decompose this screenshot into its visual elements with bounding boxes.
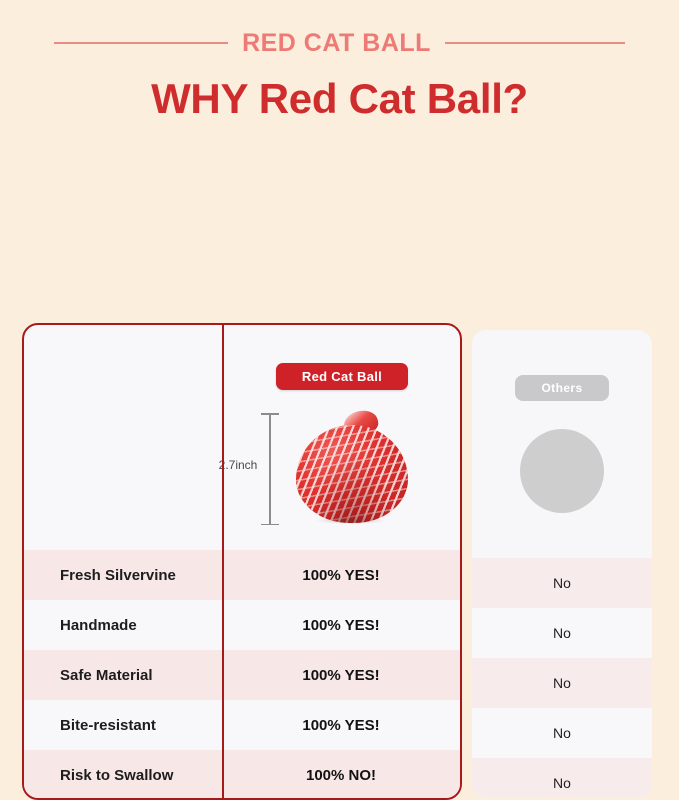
- product-value: 100% YES!: [222, 717, 460, 734]
- table-row: No: [472, 558, 652, 608]
- product-value: 100% YES!: [222, 567, 460, 584]
- product-image-area: 2.7inch: [224, 409, 460, 529]
- others-value: No: [553, 675, 571, 691]
- table-row: Handmade 100% YES!: [24, 600, 460, 650]
- others-column-panel: Others No No No No No: [472, 330, 652, 798]
- feature-label: Fresh Silvervine: [24, 567, 222, 584]
- product-value: 100% YES!: [222, 617, 460, 634]
- others-value: No: [553, 575, 571, 591]
- dimension-label: 2.7inch: [208, 457, 268, 473]
- table-row: Bite-resistant 100% YES!: [24, 700, 460, 750]
- ball-shadow: [316, 517, 386, 524]
- eyebrow-row: RED CAT BALL: [0, 28, 679, 58]
- ball-body: [296, 425, 408, 523]
- table-row: No: [472, 608, 652, 658]
- red-crochet-cat-ball-image: [296, 411, 408, 523]
- table-row: Fresh Silvervine 100% YES!: [24, 550, 460, 600]
- page-header: RED CAT BALL WHY Red Cat Ball?: [0, 0, 679, 152]
- product-badge: Red Cat Ball: [276, 363, 408, 390]
- others-value: No: [553, 625, 571, 641]
- others-column-header: Others: [472, 330, 652, 548]
- divider-rule-right: [445, 42, 625, 44]
- dimension-cap-bottom-icon: [261, 524, 279, 526]
- others-badge: Others: [515, 375, 608, 401]
- divider-rule-left: [54, 42, 228, 44]
- product-card-header: Red Cat Ball 2.7inch: [24, 325, 460, 550]
- table-row: Risk to Swallow 100% NO!: [24, 750, 460, 800]
- others-value: No: [553, 775, 571, 791]
- comparison-feature-rows: Fresh Silvervine 100% YES! Handmade 100%…: [24, 550, 460, 800]
- product-value: 100% YES!: [222, 667, 460, 684]
- feature-label: Bite-resistant: [24, 717, 222, 734]
- column-divider: [222, 325, 224, 798]
- table-row: No: [472, 708, 652, 758]
- table-row: No: [472, 658, 652, 708]
- product-value: 100% NO!: [222, 767, 460, 784]
- others-value-rows: No No No No No: [472, 558, 652, 798]
- product-highlight-card: Red Cat Ball 2.7inch: [22, 323, 462, 800]
- comparison-section: Others No No No No No Red Cat Ball: [0, 160, 679, 642]
- others-value: No: [553, 725, 571, 741]
- table-row: Safe Material 100% YES!: [24, 650, 460, 700]
- feature-label-header-spacer: [24, 325, 222, 550]
- feature-label: Handmade: [24, 617, 222, 634]
- feature-label: Risk to Swallow: [24, 767, 222, 784]
- page-title: WHY Red Cat Ball?: [0, 74, 679, 124]
- brand-eyebrow: RED CAT BALL: [242, 31, 431, 56]
- dimension-stem-icon: [269, 413, 271, 525]
- product-column-header: Red Cat Ball 2.7inch: [224, 325, 460, 550]
- gray-placeholder-circle-icon: [520, 429, 604, 513]
- feature-label: Safe Material: [24, 667, 222, 684]
- table-row: No: [472, 758, 652, 798]
